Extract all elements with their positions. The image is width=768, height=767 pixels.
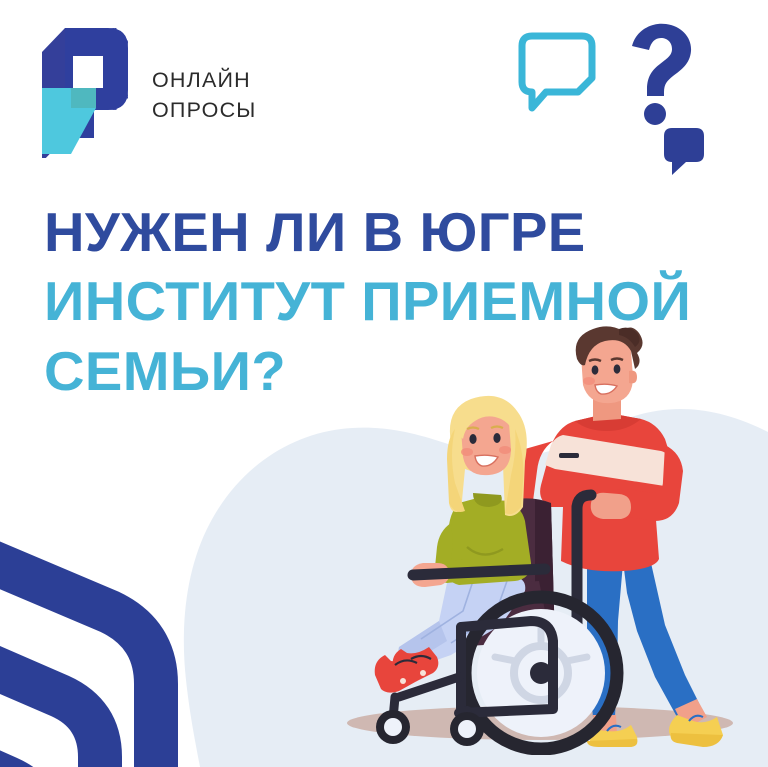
speech-bubble-filled-icon bbox=[664, 128, 704, 175]
online-polls-logo-icon bbox=[38, 26, 138, 158]
wheelchair-caster-left-inner bbox=[384, 718, 402, 736]
man-eye-left bbox=[592, 365, 599, 374]
man-cheek bbox=[583, 377, 595, 385]
caregiver-pushing-woman-in-wheelchair-illustration bbox=[355, 325, 755, 755]
woman-cheek-right bbox=[499, 446, 511, 454]
woman-eye-right bbox=[493, 433, 500, 443]
speech-bubble-outline-icon bbox=[522, 36, 592, 108]
woman-eye-left bbox=[469, 434, 476, 444]
brand-logo[interactable]: ОНЛАЙН ОПРОСЫ bbox=[38, 26, 257, 158]
wheelchair-caster-right-inner bbox=[458, 720, 476, 738]
poster-canvas: ОНЛАЙН ОПРОСЫ НУЖЕН ЛИ В ЮГРЕ ИНСТИТУТ П… bbox=[0, 0, 768, 767]
woman-cheek-left bbox=[461, 448, 473, 456]
man-chest-detail bbox=[559, 453, 579, 458]
brand-name-line-1: ОНЛАЙН bbox=[152, 67, 257, 93]
wheelchair-armrest bbox=[413, 569, 545, 575]
brand-name-line-2: ОПРОСЫ bbox=[152, 97, 257, 123]
man-ear bbox=[629, 371, 637, 384]
man-eye-right bbox=[614, 364, 621, 373]
brand-name: ОНЛАЙН ОПРОСЫ bbox=[152, 61, 257, 122]
decoration-bubbles-group bbox=[500, 20, 720, 175]
headline-line-1: НУЖЕН ЛИ В ЮГРЕ bbox=[44, 198, 748, 267]
man-right-hand bbox=[591, 493, 631, 519]
chevron-stripes-decoration bbox=[0, 540, 156, 767]
man-right-shoe-sole bbox=[671, 733, 723, 747]
question-mark-icon bbox=[632, 24, 691, 125]
man-right-leg-jeans bbox=[623, 561, 699, 717]
